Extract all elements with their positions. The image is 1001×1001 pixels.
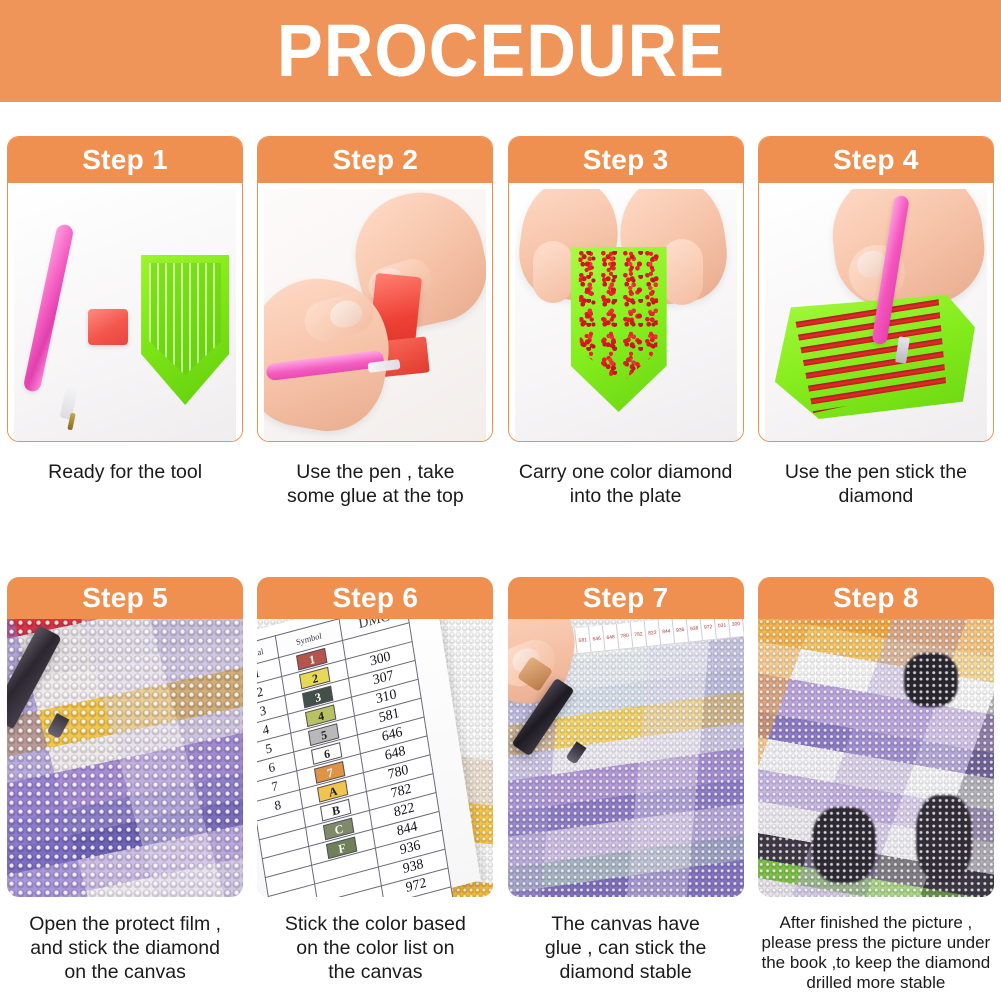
step-4-body bbox=[759, 183, 993, 442]
caption-line: Use the pen stick the bbox=[756, 461, 996, 485]
caption-line: and stick the diamond bbox=[5, 937, 245, 961]
step-3-body bbox=[509, 183, 743, 442]
step-2-body bbox=[258, 183, 492, 442]
step-1-caption: Ready for the tool bbox=[5, 461, 245, 485]
steps-row-bottom: Step 5 Open the protect film , and stick… bbox=[0, 577, 1001, 1001]
step-card-6: Step 6 SerialSymbolDMC112230033307443105… bbox=[250, 577, 500, 1001]
step-card-4: Step 4 Use the pen stick the bbox=[751, 136, 1001, 536]
step-7-badge: Step 7 bbox=[508, 577, 744, 619]
legend-cell: 031 bbox=[714, 619, 731, 639]
caption-line: Carry one color diamond bbox=[506, 461, 746, 485]
caption-line: After finished the picture , bbox=[752, 913, 1000, 933]
step-card-5: Step 5 Open the protect film , and stick… bbox=[0, 577, 250, 1001]
caption-line: the canvas bbox=[255, 961, 495, 985]
step-8-caption: After finished the picture , please pres… bbox=[752, 913, 1000, 993]
glue-square-icon bbox=[88, 309, 128, 345]
step-card-2: Step 2 bbox=[250, 136, 500, 536]
step-5-badge: Step 5 bbox=[7, 577, 243, 619]
step-3-photo bbox=[515, 189, 737, 441]
step-4-photo bbox=[765, 189, 987, 441]
step-1-badge: Step 1 bbox=[8, 137, 242, 183]
step-3-caption: Carry one color diamond into the plate bbox=[506, 461, 746, 509]
caption-line: diamond stable bbox=[506, 961, 746, 985]
step-5-photo bbox=[7, 619, 243, 897]
caption-line: glue , can stick the bbox=[506, 937, 746, 961]
caption-line: into the plate bbox=[506, 485, 746, 509]
caption-line: Use the pen , take bbox=[255, 461, 495, 485]
caption-line: on the color list on bbox=[255, 937, 495, 961]
legend-cell: 300 bbox=[728, 619, 744, 637]
procedure-infographic: PROCEDURE Step 1 Rea bbox=[0, 0, 1001, 1001]
step-7-photo: 3003073105816466487807828228449369389720… bbox=[508, 619, 744, 897]
step-6-photo: SerialSymbolDMC1122300333074431055581666… bbox=[257, 619, 493, 897]
bead-texture bbox=[758, 619, 994, 897]
legend-cell: 938 bbox=[686, 619, 703, 642]
dmc-table: SerialSymbolDMC1122300333074431055581666… bbox=[257, 619, 455, 897]
page-header-banner: PROCEDURE bbox=[0, 0, 1001, 102]
step-card-1: Step 1 Ready for the tool bbox=[0, 136, 250, 536]
caption-line: the book ,to keep the diamond bbox=[752, 953, 1000, 973]
caption-line: Stick the color based bbox=[255, 913, 495, 937]
step-5-frame: Step 5 bbox=[7, 577, 243, 897]
step-7-frame: Step 7 300307310581646648780782822844936… bbox=[508, 577, 744, 897]
finger-icon bbox=[661, 239, 703, 305]
step-2-caption: Use the pen , take some glue at the top bbox=[255, 461, 495, 509]
step-4-badge: Step 4 bbox=[759, 137, 993, 183]
step-4-frame: Step 4 bbox=[758, 136, 994, 442]
step-8-badge: Step 8 bbox=[758, 577, 994, 619]
step-1-body bbox=[8, 183, 242, 442]
step-1-frame: Step 1 bbox=[7, 136, 243, 442]
step-2-frame: Step 2 bbox=[257, 136, 493, 442]
caption-line: some glue at the top bbox=[255, 485, 495, 509]
caption-line: Open the protect film , bbox=[5, 913, 245, 937]
step-5-caption: Open the protect film , and stick the di… bbox=[5, 913, 245, 984]
step-2-photo bbox=[264, 189, 486, 441]
step-3-badge: Step 3 bbox=[509, 137, 743, 183]
caption-line: drilled more stable bbox=[752, 973, 1000, 993]
caption-line: on the canvas bbox=[5, 961, 245, 985]
dmc-table-body: SerialSymbolDMC1122300333074431055581666… bbox=[257, 619, 454, 897]
step-card-8: Step 8 After finished the picture , plea… bbox=[751, 577, 1001, 1001]
step-8-frame: Step 8 bbox=[758, 577, 994, 897]
step-6-caption: Stick the color based on the color list … bbox=[255, 913, 495, 984]
steps-row-top: Step 1 Ready for the tool bbox=[0, 136, 1001, 536]
step-card-7: Step 7 300307310581646648780782822844936… bbox=[501, 577, 751, 1001]
step-card-3: Step 3 Carry one color diamond into the bbox=[501, 136, 751, 536]
step-1-photo bbox=[14, 189, 236, 441]
finger-icon bbox=[533, 241, 573, 303]
caption-line: diamond bbox=[756, 485, 996, 509]
step-8-photo bbox=[758, 619, 994, 897]
step-6-frame: Step 6 SerialSymbolDMC112230033307443105… bbox=[257, 577, 493, 897]
step-4-caption: Use the pen stick the diamond bbox=[756, 461, 996, 509]
step-7-caption: The canvas have glue , can stick the dia… bbox=[506, 913, 746, 984]
page-title: PROCEDURE bbox=[276, 14, 724, 88]
step-3-frame: Step 3 bbox=[508, 136, 744, 442]
caption-line: please press the picture under bbox=[752, 933, 1000, 953]
step-6-badge: Step 6 bbox=[257, 577, 493, 619]
legend-cell: 972 bbox=[700, 619, 717, 640]
step-2-badge: Step 2 bbox=[258, 137, 492, 183]
caption-line: The canvas have bbox=[506, 913, 746, 937]
